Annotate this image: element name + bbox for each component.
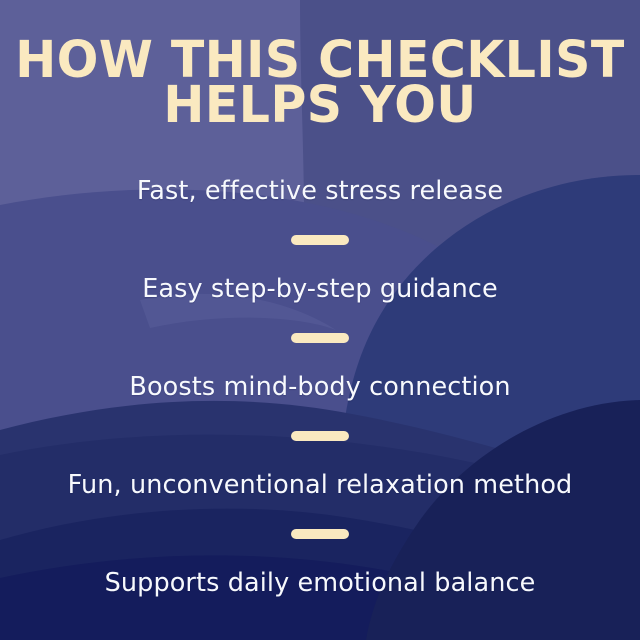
- poster-content: HOW THIS CHECKLIST HELPS YOU Fast, effec…: [0, 0, 640, 640]
- poster-title: HOW THIS CHECKLIST HELPS YOU: [0, 38, 640, 128]
- divider-dash-icon: [291, 529, 349, 539]
- benefit-text-3: Boosts mind-body connection: [129, 372, 510, 402]
- list-item: Fun, unconventional relaxation method: [0, 460, 640, 509]
- benefit-list: Fast, effective stress release Easy step…: [0, 166, 640, 607]
- divider-3: [0, 411, 640, 460]
- benefit-text-5: Supports daily emotional balance: [105, 568, 536, 598]
- benefit-text-4: Fun, unconventional relaxation method: [68, 470, 573, 500]
- list-item: Boosts mind-body connection: [0, 362, 640, 411]
- divider-dash-icon: [291, 333, 349, 343]
- divider-1: [0, 215, 640, 264]
- divider-dash-icon: [291, 431, 349, 441]
- list-item: Supports daily emotional balance: [0, 558, 640, 607]
- divider-4: [0, 509, 640, 558]
- title-line-2: HELPS YOU: [13, 83, 627, 128]
- divider-2: [0, 313, 640, 362]
- list-item: Easy step-by-step guidance: [0, 264, 640, 313]
- benefit-text-2: Easy step-by-step guidance: [142, 274, 498, 304]
- list-item: Fast, effective stress release: [0, 166, 640, 215]
- poster-canvas: HOW THIS CHECKLIST HELPS YOU Fast, effec…: [0, 0, 640, 640]
- benefit-text-1: Fast, effective stress release: [137, 176, 503, 206]
- divider-dash-icon: [291, 235, 349, 245]
